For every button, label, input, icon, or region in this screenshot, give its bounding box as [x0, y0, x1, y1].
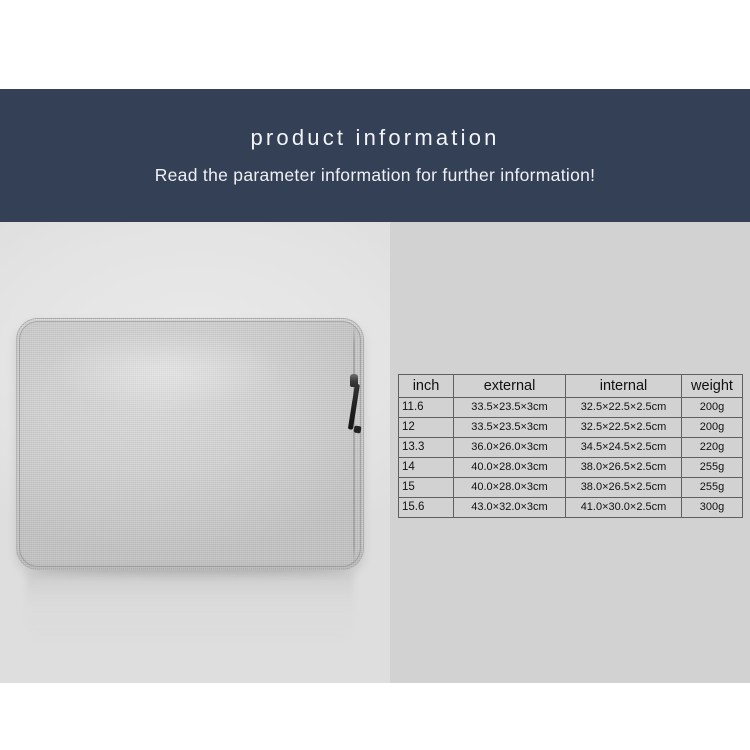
cell-external: 33.5×23.5×3cm — [454, 418, 566, 438]
column-header-inch: inch — [399, 375, 454, 398]
table-row: 12 33.5×23.5×3cm 32.5×22.5×2.5cm 200g — [399, 418, 743, 438]
bottom-white-strip — [0, 683, 750, 750]
table-row: 14 40.0×28.0×3cm 38.0×26.5×2.5cm 255g — [399, 458, 743, 478]
product-photo-panel — [0, 222, 390, 683]
cell-weight: 255g — [682, 478, 743, 498]
column-header-weight: weight — [682, 375, 743, 398]
cell-inch: 13.3 — [399, 438, 454, 458]
content-band: inch external internal weight 11.6 33.5×… — [0, 222, 750, 683]
cell-inch: 11.6 — [399, 398, 454, 418]
table-row: 11.6 33.5×23.5×3cm 32.5×22.5×2.5cm 200g — [399, 398, 743, 418]
page-title: product information — [250, 127, 499, 149]
cell-inch: 12 — [399, 418, 454, 438]
table-header-row: inch external internal weight — [399, 375, 743, 398]
product-reflection — [26, 572, 354, 646]
cell-weight: 220g — [682, 438, 743, 458]
cell-internal: 32.5×22.5×2.5cm — [566, 398, 682, 418]
cell-weight: 300g — [682, 498, 743, 518]
sleeve-highlight — [44, 331, 288, 412]
laptop-sleeve-image — [16, 318, 364, 570]
table-row: 15 40.0×28.0×3cm 38.0×26.5×2.5cm 255g — [399, 478, 743, 498]
top-white-strip — [0, 0, 750, 89]
cell-weight: 255g — [682, 458, 743, 478]
cell-internal: 41.0×30.0×2.5cm — [566, 498, 682, 518]
table-row: 13.3 36.0×26.0×3cm 34.5×24.5×2.5cm 220g — [399, 438, 743, 458]
cell-external: 33.5×23.5×3cm — [454, 398, 566, 418]
cell-external: 43.0×32.0×3cm — [454, 498, 566, 518]
header-banner: product information Read the parameter i… — [0, 89, 750, 222]
cell-external: 36.0×26.0×3cm — [454, 438, 566, 458]
zipper-pull-tip-icon — [353, 425, 361, 433]
page-subtitle: Read the parameter information for furth… — [155, 167, 596, 185]
cell-inch: 14 — [399, 458, 454, 478]
cell-inch: 15.6 — [399, 498, 454, 518]
specification-panel: inch external internal weight 11.6 33.5×… — [390, 222, 750, 683]
cell-weight: 200g — [682, 398, 743, 418]
product-information-page: product information Read the parameter i… — [0, 0, 750, 750]
spec-table-wrapper: inch external internal weight 11.6 33.5×… — [398, 374, 742, 518]
column-header-internal: internal — [566, 375, 682, 398]
cell-internal: 38.0×26.5×2.5cm — [566, 478, 682, 498]
cell-external: 40.0×28.0×3cm — [454, 478, 566, 498]
cell-weight: 200g — [682, 418, 743, 438]
table-row: 15.6 43.0×32.0×3cm 41.0×30.0×2.5cm 300g — [399, 498, 743, 518]
specification-table: inch external internal weight 11.6 33.5×… — [398, 374, 743, 518]
cell-inch: 15 — [399, 478, 454, 498]
cell-external: 40.0×28.0×3cm — [454, 458, 566, 478]
cell-internal: 34.5×24.5×2.5cm — [566, 438, 682, 458]
zipper-track-icon — [353, 324, 355, 564]
cell-internal: 32.5×22.5×2.5cm — [566, 418, 682, 438]
column-header-external: external — [454, 375, 566, 398]
cell-internal: 38.0×26.5×2.5cm — [566, 458, 682, 478]
